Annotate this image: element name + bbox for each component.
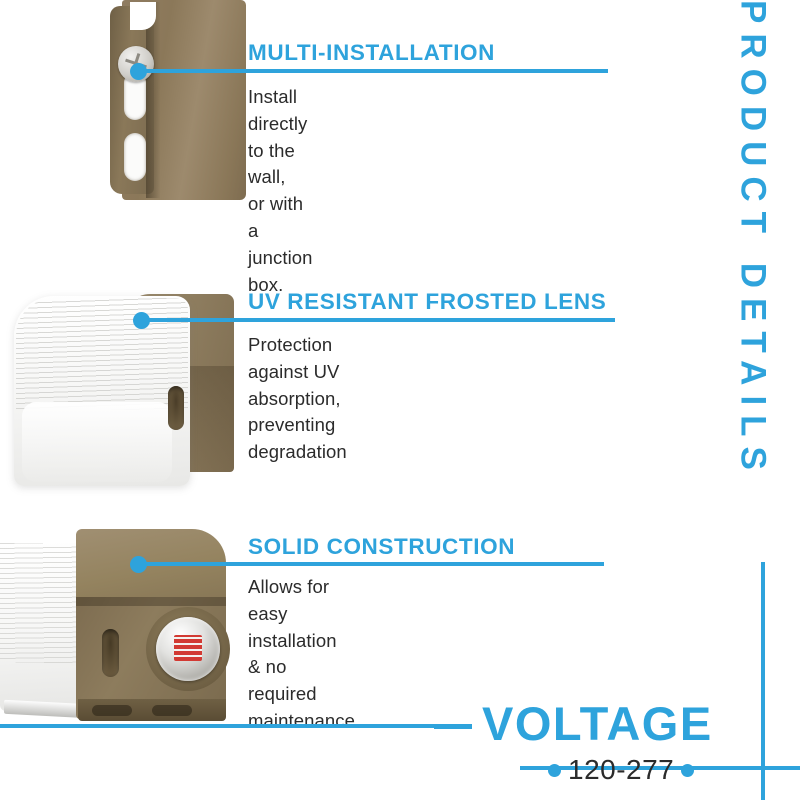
callout-dot-multi-installation xyxy=(130,63,147,80)
bracket-shadow xyxy=(146,2,160,198)
feature-title-uv-resistant-frosted-lens: UV RESISTANT FROSTED LENS xyxy=(248,289,606,315)
feature-title-multi-installation: MULTI-INSTALLATION xyxy=(248,40,495,66)
lens-gloss-highlight xyxy=(22,402,172,482)
feature-body-line-2: or with a junction box. xyxy=(248,191,313,298)
feature-body-line-1: Allows for easy installation xyxy=(248,574,355,654)
fixture-face-lip xyxy=(76,597,226,606)
callout-line-solid-construction xyxy=(140,562,604,566)
callout-line-uv-resistant-frosted-lens xyxy=(143,318,615,322)
housing-vent-slot xyxy=(168,386,184,430)
lens-rib-texture xyxy=(16,298,188,410)
feature-body-solid-construction: Allows for easy installation & no requir… xyxy=(248,574,355,735)
vertical-accent-rule xyxy=(761,562,765,800)
feature-body-line-2: preventing degradation xyxy=(248,412,347,466)
photocell-label xyxy=(174,635,202,661)
fixture-base-slot-right xyxy=(152,705,192,716)
feature-body-uv-resistant-frosted-lens: Protection against UV absorption, preven… xyxy=(248,332,347,466)
feature-body-line-2: & no required maintenance xyxy=(248,654,355,734)
feature-image-solid-construction xyxy=(0,513,232,728)
vertical-title-container: PRODUCT DETAILS xyxy=(720,0,800,580)
keyhole-slot-lower xyxy=(124,133,146,181)
voltage-leading-dash xyxy=(434,725,472,729)
page-title: PRODUCT DETAILS xyxy=(736,0,785,480)
callout-dot-solid-construction xyxy=(130,556,147,573)
feature-body-line-1: Protection against UV absorption, xyxy=(248,332,347,412)
fixture-vent-slot xyxy=(102,629,119,677)
callout-dot-uv-resistant-frosted-lens xyxy=(133,312,150,329)
callout-line-multi-installation xyxy=(140,69,608,73)
voltage-range-value: 120-277 xyxy=(568,756,674,784)
product-details-infographic: PRODUCT DETAILS MULTI-INSTALLATION Insta… xyxy=(0,0,800,800)
voltage-label: VOLTAGE xyxy=(482,700,713,747)
feature-image-multi-installation xyxy=(100,0,260,205)
feature-body-multi-installation: Install directly to the wall, or with a … xyxy=(248,84,313,299)
feature-body-line-1: Install directly to the wall, xyxy=(248,84,313,191)
fixture-base-slot-left xyxy=(92,705,132,716)
fixture-hood xyxy=(76,529,226,605)
voltage-trailing-rule xyxy=(698,766,764,770)
feature-image-uv-resistant-frosted-lens xyxy=(0,282,236,497)
bottom-divider-rule xyxy=(0,724,472,728)
feature-title-solid-construction: SOLID CONSTRUCTION xyxy=(248,534,515,560)
bullet-dot-right-icon xyxy=(681,764,694,777)
bracket-illustration xyxy=(100,0,260,205)
bullet-dot-left-icon xyxy=(548,764,561,777)
voltage-range-row: 120-277 xyxy=(548,756,694,784)
